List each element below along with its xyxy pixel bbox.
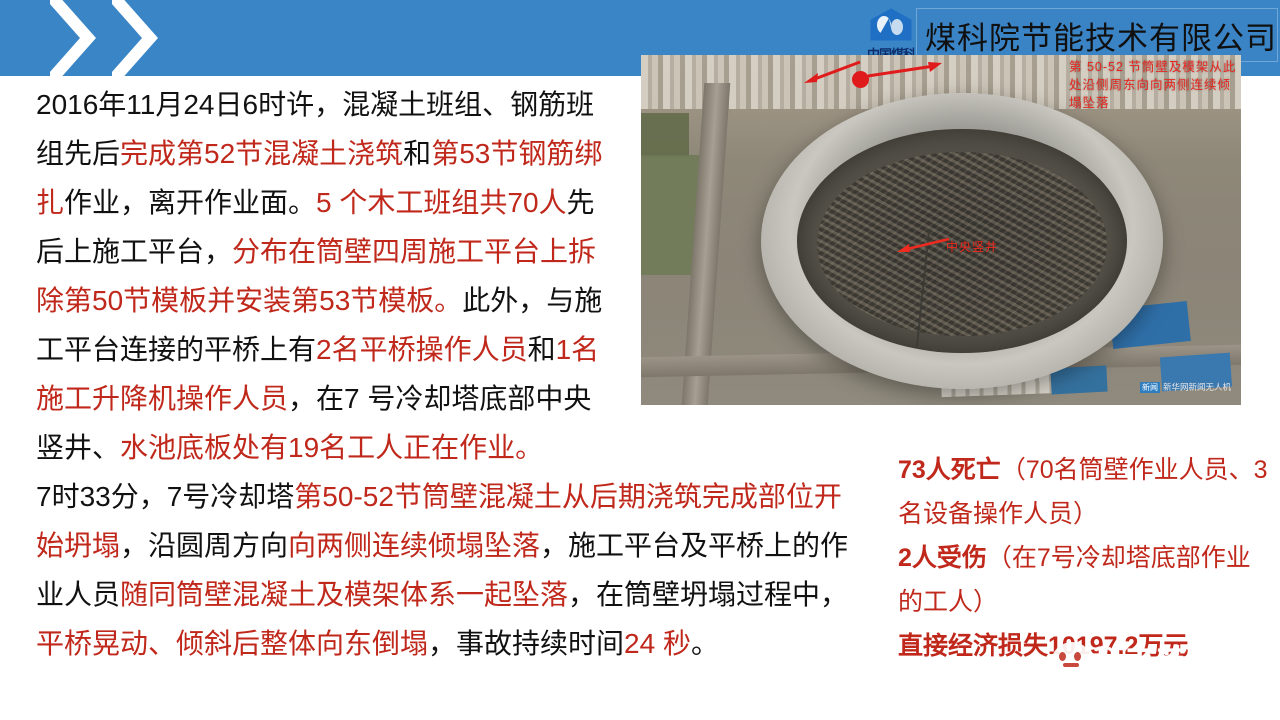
company-name: 煤科院节能技术有限公司 xyxy=(917,13,1277,58)
text-run: 随同筒壁混凝土及模架体系一起坠落 xyxy=(120,579,568,610)
text-run: 和 xyxy=(528,334,556,365)
company-name-box: 煤科院节能技术有限公司 xyxy=(916,8,1278,62)
banner-fill xyxy=(190,0,640,76)
casualty-deaths-count: 73人死亡 xyxy=(898,456,1001,484)
chevron-right-icon-2-inner xyxy=(96,0,142,76)
photo-collapse-annotation: 第 50-52 节筒壁及模架从此处沿侧周东向向两侧连续倾塌坠落 xyxy=(1069,58,1241,112)
news-watermark: 新闻 新华网新闻无人机 xyxy=(1140,372,1240,402)
top-banner xyxy=(0,0,640,76)
text-run: 7时33分，7号冷却塔 xyxy=(36,481,294,512)
text-run: ，沿圆周方向 xyxy=(120,530,288,561)
text-run: 24 秒 xyxy=(624,628,691,659)
arrow-right-icon xyxy=(866,58,944,84)
text-run: ，事故持续时间 xyxy=(428,628,624,659)
casualty-loss-label: 直接经济损失 xyxy=(898,632,1048,660)
casualty-deaths-line: 73人死亡（70名筒壁作业人员、3名设备操作人员） xyxy=(898,448,1270,536)
text-run: 5 个木工班组共70人 xyxy=(316,187,567,218)
casualty-loss-value: 10197.2万元 xyxy=(1048,632,1188,660)
text-run: 完成第52节混凝土浇筑 xyxy=(120,138,403,169)
photo-center-shaft-label: 中央竖井 xyxy=(946,238,998,255)
text-run: 平桥晃动、倾斜后整体向东倒塌 xyxy=(36,628,428,659)
casualty-injuries-line: 2人受伤（在7号冷却塔底部作业的工人） xyxy=(898,536,1270,624)
casualty-summary: 73人死亡（70名筒壁作业人员、3名设备操作人员） 2人受伤（在7号冷却塔底部作… xyxy=(898,448,1270,668)
news-watermark-text: 新华网新闻无人机 xyxy=(1163,381,1231,393)
chevron-right-icon-inner xyxy=(34,0,80,76)
narrative-paragraph-2: 7时33分，7号冷却塔第50-52节筒壁混凝土从后期浇筑完成部位开始坍塌，沿圆周… xyxy=(36,472,866,668)
news-badge: 新闻 xyxy=(1140,382,1160,393)
text-run: 和 xyxy=(403,138,431,169)
text-run: 。 xyxy=(691,628,719,659)
casualty-injuries-count: 2人受伤 xyxy=(898,544,987,572)
casualty-loss-line: 直接经济损失10197.2万元 xyxy=(898,624,1270,668)
text-run: 作业，离开作业面。 xyxy=(64,187,316,218)
arrow-center-icon xyxy=(895,233,951,255)
coal-science-emblem-icon xyxy=(863,6,919,46)
text-run: 2名平桥操作人员 xyxy=(316,334,528,365)
narrative-text: 2016年11月24日6时许，混凝土班组、钢筋班组先后完成第52节混凝土浇筑和第… xyxy=(36,80,856,668)
text-run: 水池底板处有19名工人正在作业。 xyxy=(120,432,543,463)
text-run: ，在筒壁坍塌过程中， xyxy=(568,579,848,610)
text-run: 向两侧连续倾塌坠落 xyxy=(288,530,540,561)
narrative-paragraph-1: 2016年11月24日6时许，混凝土班组、钢筋班组先后完成第52节混凝土浇筑和第… xyxy=(36,80,616,472)
